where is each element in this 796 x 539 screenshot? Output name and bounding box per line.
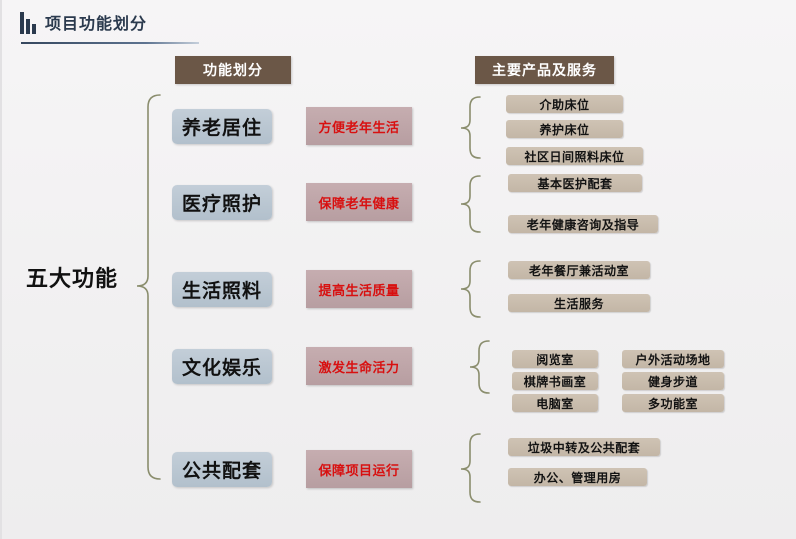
product-pill[interactable]: 垃圾中转及公共配套	[508, 438, 660, 456]
product-pill[interactable]: 阅览室	[512, 350, 598, 368]
function-box-3[interactable]: 生活照料	[172, 272, 272, 307]
product-pill[interactable]: 办公、管理用房	[508, 468, 647, 486]
row-brace-4	[470, 341, 489, 393]
product-pill[interactable]: 健身步道	[622, 372, 724, 390]
product-pill[interactable]: 老年健康咨询及指导	[508, 215, 658, 233]
function-box-5[interactable]: 公共配套	[172, 452, 272, 487]
row-brace-1	[461, 97, 480, 158]
page-title: 项目功能划分	[45, 10, 147, 34]
slogan-box-5[interactable]: 保障项目运行	[306, 450, 412, 488]
root-label: 五大功能	[26, 261, 118, 293]
function-box-4[interactable]: 文化娱乐	[172, 349, 272, 384]
product-pill[interactable]: 养护床位	[506, 120, 623, 138]
function-box-2[interactable]: 医疗照护	[172, 185, 272, 220]
product-pill[interactable]: 多功能室	[622, 394, 724, 412]
row-brace-3	[461, 261, 480, 317]
product-pill[interactable]: 棋牌书画室	[512, 372, 598, 390]
product-pill[interactable]: 电脑室	[512, 394, 598, 412]
slogan-box-3[interactable]: 提高生活质量	[306, 270, 412, 308]
product-pill[interactable]: 社区日间照料床位	[506, 147, 643, 165]
slogan-box-2[interactable]: 保障老年健康	[306, 183, 412, 221]
title-underline	[21, 42, 199, 44]
row-brace-5	[461, 434, 480, 502]
product-pill[interactable]: 老年餐厅兼活动室	[508, 261, 650, 279]
product-pill[interactable]: 户外活动场地	[622, 350, 724, 368]
page-header: 项目功能划分	[20, 10, 147, 34]
slogan-box-1[interactable]: 方便老年生活	[306, 107, 412, 145]
column-header-products: 主要产品及服务	[475, 56, 614, 84]
main-brace	[137, 95, 160, 479]
row-brace-2	[461, 176, 480, 232]
function-box-1[interactable]: 养老居住	[172, 109, 272, 144]
product-pill[interactable]: 介助床位	[506, 95, 623, 113]
product-pill[interactable]: 生活服务	[508, 294, 650, 312]
column-header-function: 功能划分	[175, 56, 291, 84]
product-pill[interactable]: 基本医护配套	[508, 174, 642, 192]
slogan-box-4[interactable]: 激发生命活力	[306, 347, 412, 385]
bar-chart-icon	[20, 10, 36, 34]
slide-canvas: 项目功能划分 功能划分 主要产品及服务 五大功能 养老居住 方便老年生活 介助床…	[0, 0, 796, 539]
